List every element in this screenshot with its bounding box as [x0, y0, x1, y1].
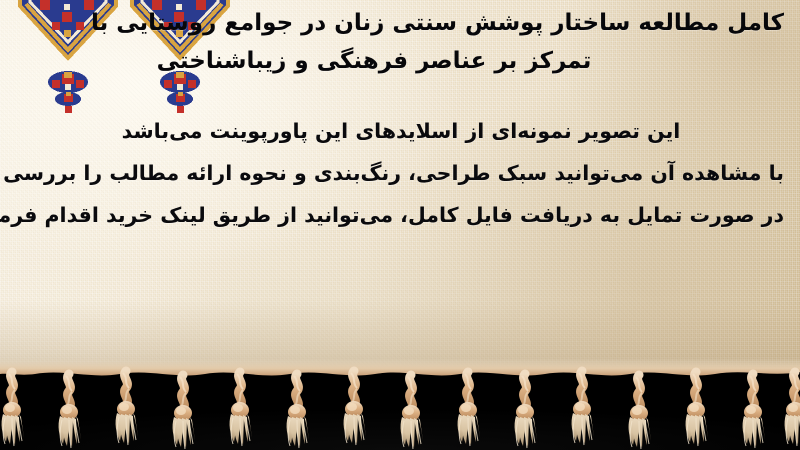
slide-text-layer: کامل مطالعه ساختار پوشش سنتی زنان در جوا…: [0, 0, 800, 378]
body-line-3: در صورت تمایل به دریافت فایل کامل، می‌تو…: [18, 194, 784, 236]
slide-title: کامل مطالعه ساختار پوشش سنتی زنان در جوا…: [24, 4, 784, 80]
slide-body: این تصویر نمونه‌ای از اسلایدهای این پاور…: [18, 110, 784, 236]
black-bottom-panel: [0, 372, 800, 450]
body-line-2: با مشاهده آن می‌توانید سبک طراحی، رنگ‌بن…: [18, 152, 784, 194]
title-line-1: کامل مطالعه ساختار پوشش سنتی زنان در جوا…: [24, 4, 784, 42]
title-line-2: تمرکز بر عناصر فرهنگی و زیباشناختی: [24, 42, 784, 80]
body-line-1: این تصویر نمونه‌ای از اسلایدهای این پاور…: [18, 110, 784, 152]
presentation-slide: کامل مطالعه ساختار پوشش سنتی زنان در جوا…: [0, 0, 800, 450]
